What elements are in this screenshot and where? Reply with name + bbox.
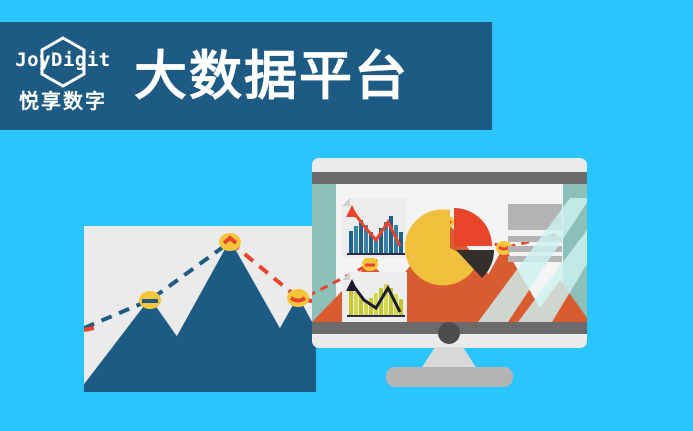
logo-wordmark: JoyDigit xyxy=(0,51,126,70)
monitor-stand-neck xyxy=(421,347,477,369)
logo-subtitle: 悦享数字 xyxy=(0,92,126,112)
trend-line-red xyxy=(84,328,94,330)
header-banner: JoyDigit 悦享数字 大数据平台 xyxy=(0,22,492,130)
desktop-monitor xyxy=(312,158,587,348)
axis-line-olive xyxy=(347,315,405,317)
brand-logo: JoyDigit 悦享数字 xyxy=(0,22,126,130)
mountain-chart-panel xyxy=(84,226,316,392)
pie-chart xyxy=(405,208,494,285)
monitor-bezel-top xyxy=(312,172,587,184)
bar-chart-card-blue xyxy=(342,198,407,258)
page-title: 大数据平台 xyxy=(134,50,409,103)
axis-line-blue xyxy=(347,253,405,255)
monitor-power-indicator xyxy=(438,322,460,344)
monitor-screen xyxy=(312,184,587,322)
banner-canvas: JoyDigit 悦享数字 大数据平台 xyxy=(0,0,693,431)
bar-chart-card-olive xyxy=(342,272,407,322)
monitor-stand-base xyxy=(386,367,513,387)
